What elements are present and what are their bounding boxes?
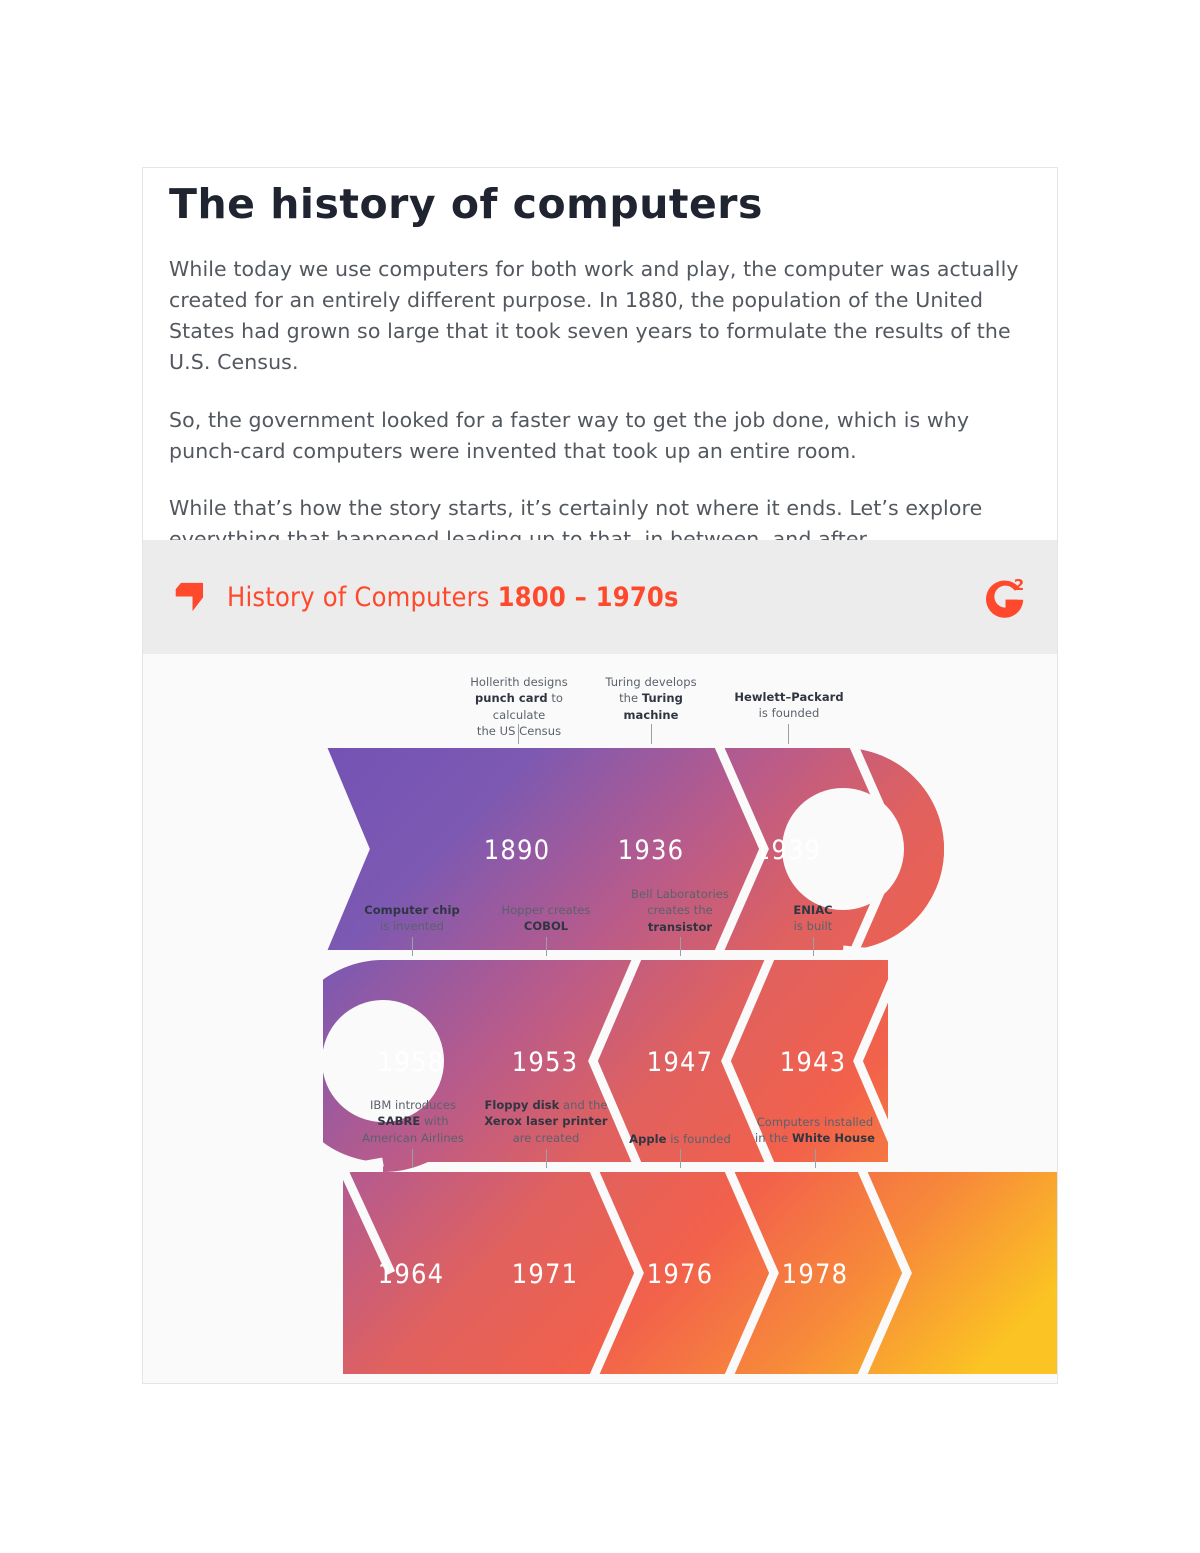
year-1978: 1978 (782, 1259, 849, 1290)
document-page: The history of computers While today we … (142, 167, 1058, 1384)
tick-1964 (412, 1149, 413, 1168)
event-label-1953: Hopper createsCOBOL (483, 902, 609, 935)
tick-1953 (546, 937, 547, 956)
tick-1936 (651, 724, 652, 744)
tick-1976 (680, 1149, 681, 1168)
paragraph-1: While today we use computers for both wo… (169, 254, 1031, 379)
year-1976: 1976 (647, 1259, 714, 1290)
tick-1943 (813, 937, 814, 956)
event-label-1978: Computers installedin the White House (741, 1114, 889, 1147)
g2-logo: 2 (979, 574, 1031, 626)
infographic-title-range: 1800 – 1970s (498, 582, 679, 613)
paragraph-2: So, the government looked for a faster w… (169, 405, 1031, 467)
infographic-header: History of Computers 1800 – 1970s 2 (143, 540, 1057, 654)
arrow-pentagon-icon (171, 576, 213, 618)
year-1953: 1953 (512, 1047, 579, 1078)
event-label-1947: Bell Laboratoriescreates thetransistor (615, 886, 745, 935)
year-1971: 1971 (512, 1259, 579, 1290)
article-body: The history of computers While today we … (143, 168, 1057, 575)
g2-logo-superscript: 2 (1014, 576, 1024, 594)
year-1943: 1943 (780, 1047, 847, 1078)
tick-1947 (680, 937, 681, 956)
tick-1978 (815, 1149, 816, 1168)
tick-1958 (412, 937, 413, 956)
infographic-body: 1890 1936 1939 1943 1947 1953 1958 1964 … (143, 654, 1057, 1384)
tick-1939 (788, 724, 789, 744)
event-label-1958: Computer chipis invented (349, 902, 475, 935)
tick-1890 (518, 724, 519, 744)
event-label-1971: Floppy disk and theXerox laser printerar… (477, 1097, 615, 1146)
tick-1971 (546, 1149, 547, 1168)
event-label-1936: Turing developsthe Turingmachine (591, 674, 711, 723)
infographic: History of Computers 1800 – 1970s 2 (143, 540, 1057, 1384)
year-1947: 1947 (647, 1047, 714, 1078)
infographic-title-plain: History of Computers (227, 582, 498, 613)
year-1964: 1964 (378, 1259, 445, 1290)
event-label-1943: ENIACis built (753, 902, 873, 935)
event-label-1976: Apple is founded (612, 1131, 748, 1147)
timeline-graphic: 1890 1936 1939 1943 1947 1953 1958 1964 … (143, 654, 1057, 1384)
infographic-title: History of Computers 1800 – 1970s (227, 582, 679, 613)
event-label-1964: IBM introducesSABRE withAmerican Airline… (349, 1097, 477, 1146)
event-label-1890: Hollerith designspunch card to calculate… (449, 674, 589, 739)
year-1890: 1890 (484, 835, 551, 866)
year-1958: 1958 (378, 1047, 445, 1078)
year-1939: 1939 (755, 835, 822, 866)
page-title: The history of computers (169, 182, 1031, 228)
year-1936: 1936 (618, 835, 685, 866)
event-label-1939: Hewlett–Packardis founded (723, 689, 855, 722)
